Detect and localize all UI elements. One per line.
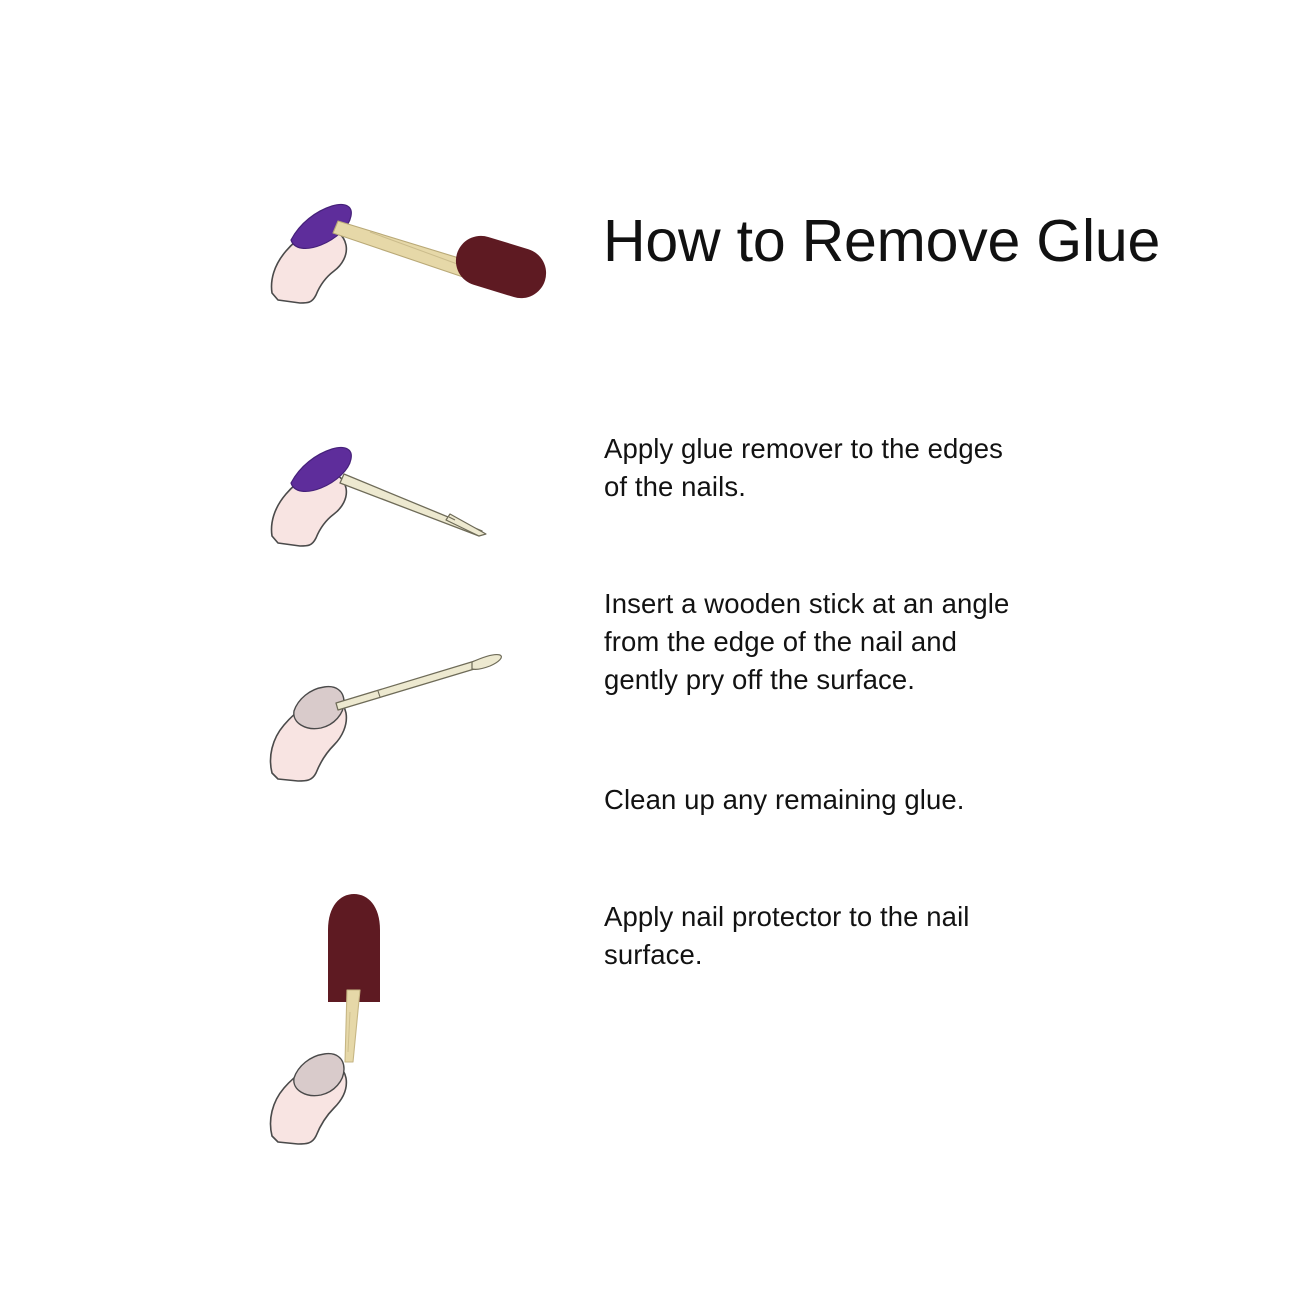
- step-2-line-3: gently pry off the surface.: [604, 661, 1114, 699]
- step-3-line-1: Clean up any remaining glue.: [604, 781, 1114, 819]
- step-1-text: Apply glue remover to the edges of the n…: [604, 430, 1114, 506]
- step-1-line-1: Apply glue remover to the edges: [604, 430, 1114, 468]
- step-3-text: Clean up any remaining glue.: [604, 781, 1114, 819]
- step-4-line-1: Apply nail protector to the nail: [604, 898, 1114, 936]
- infographic-page: How to Remove Glue: [0, 0, 1290, 1290]
- applicator-stick: [333, 221, 472, 278]
- illustration-step-3-pry-off-surface: [250, 645, 550, 805]
- step-2-text: Insert a wooden stick at an angle from t…: [604, 585, 1114, 699]
- step-4-text: Apply nail protector to the nail surface…: [604, 898, 1114, 974]
- maroon-bottle-cap: [328, 894, 380, 1002]
- wooden-stick-tip: [472, 655, 501, 670]
- wooden-stick: [336, 657, 491, 710]
- applicator-brush: [345, 990, 360, 1062]
- step-1-line-2: of the nails.: [604, 468, 1114, 506]
- maroon-bottle-cap: [450, 230, 553, 305]
- step-4-line-2: surface.: [604, 936, 1114, 974]
- step-2-line-2: from the edge of the nail and: [604, 623, 1114, 661]
- illustration-step-4-nail-protector-bottle: [250, 880, 470, 1150]
- step-2-line-1: Insert a wooden stick at an angle: [604, 585, 1114, 623]
- page-title: How to Remove Glue: [603, 212, 1243, 271]
- illustration-step-2-wooden-stick-angle: [250, 430, 550, 565]
- illustration-step-1-glue-remover-bottle: [250, 185, 550, 335]
